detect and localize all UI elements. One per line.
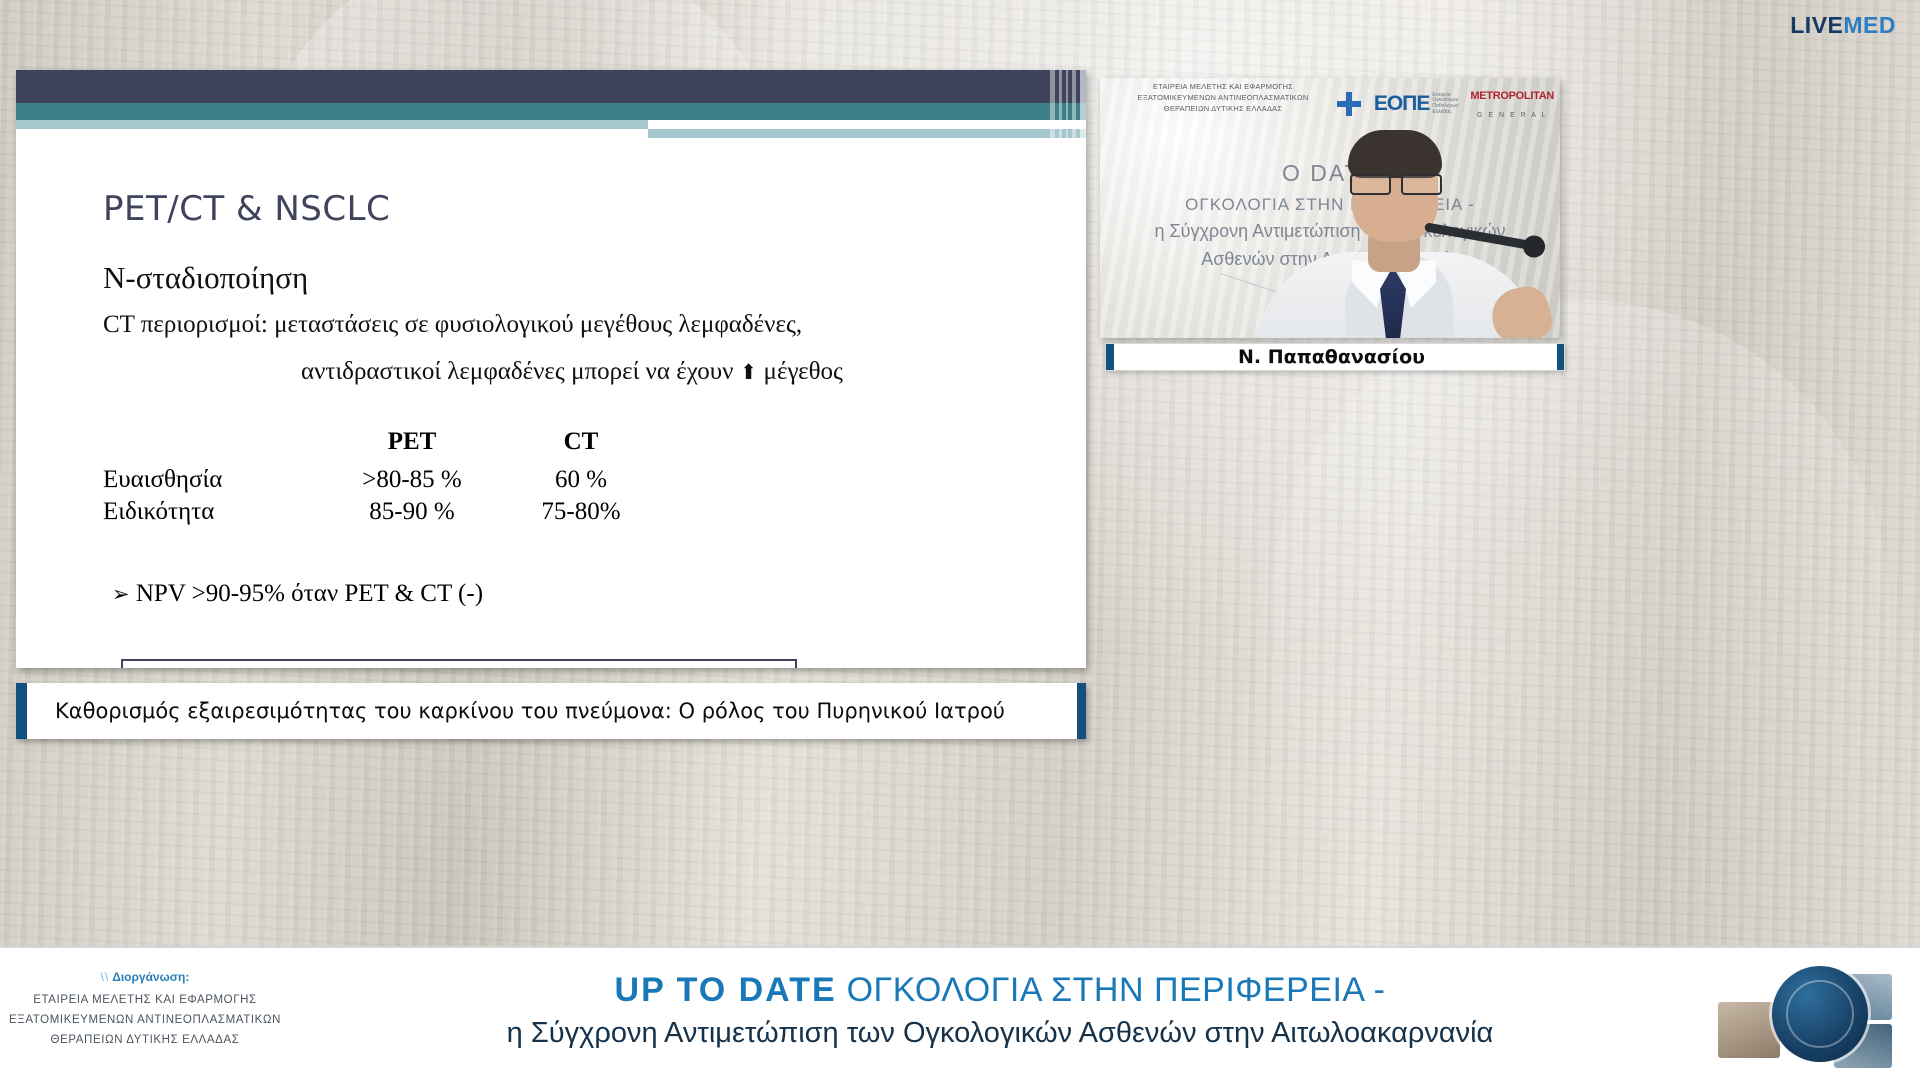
- livemed-logo-live: LIVE: [1790, 12, 1843, 38]
- npv-text: NPV >90-95% όταν PET & CT (-): [136, 580, 483, 607]
- slide-header-lightteal-band: [16, 120, 648, 129]
- video-org-line-1: ΕΤΑΙΡΕΙΑ ΜΕΛΕΤΗΣ ΚΑΙ ΕΦΑΡΜΟΓΗΣ: [1108, 82, 1338, 93]
- footer-organizer-block: \\ Διοργάνωση: ΕΤΑΙΡΕΙΑ ΜΕΛΕΤΗΣ ΚΑΙ ΕΦΑΡ…: [0, 970, 290, 1050]
- table-header-row: PET CT: [103, 426, 656, 464]
- video-slide-organizer-text: ΕΤΑΙΡΕΙΑ ΜΕΛΕΤΗΣ ΚΑΙ ΕΦΑΡΜΟΓΗΣ ΕΞΑΤΟΜΙΚΕ…: [1108, 82, 1338, 115]
- table-cell-pet: 85-90 %: [318, 496, 506, 528]
- footer-event-title: UP TO DATE ΟΓΚΟΛΟΓΙΑ ΣΤΗΝ ΠΕΡΙΦΕΡΕΙΑ - η…: [300, 972, 1700, 1050]
- slide-header-vertical-stripes: [1050, 70, 1086, 143]
- livemed-logo-med: MED: [1843, 12, 1896, 38]
- slide-header-teal-band: [16, 103, 1086, 120]
- eope-logo-subtext: Εταιρεία Ογκολόγων Παθολόγων Ελλάδας: [1432, 93, 1458, 116]
- footer-title-row-2: η Σύγχρονη Αντιμετώπιση των Ογκολογικών …: [300, 1017, 1700, 1050]
- speaker-name-bar: Ν. Παπαθανασίου: [1105, 343, 1565, 371]
- slide-ct-limitations-line-2: αντιδραστικοί λεμφαδένες μπορεί να έχουν…: [301, 358, 843, 386]
- microphone-icon: [1424, 222, 1536, 250]
- speaker-video-panel[interactable]: ΕΤΑΙΡΕΙΑ ΜΕΛΕΤΗΣ ΚΑΙ ΕΦΑΡΜΟΓΗΣ ΕΞΑΤΟΜΙΚΕ…: [1100, 78, 1560, 338]
- globe-icon: [1772, 966, 1868, 1062]
- table-row: Ειδικότητα 85-90 % 75-80%: [103, 496, 656, 528]
- table-header-blank: [103, 426, 318, 464]
- backdrop-arch-right: [1270, 300, 1890, 860]
- speaker-name: Ν. Παπαθανασίου: [1114, 346, 1557, 368]
- table-header-ct: CT: [506, 426, 656, 464]
- table-cell-ct: 60 %: [506, 464, 656, 496]
- footer-organizer-line-3: ΘΕΡΑΠΕΙΩΝ ΔΥΤΙΚΗΣ ΕΛΛΑΔΑΣ: [0, 1030, 290, 1050]
- npv-bullet-line: ➢ NPV >90-95% όταν PET & CT (-): [112, 580, 483, 608]
- speaker-figure: [1248, 120, 1548, 338]
- eope-logo: EOΠE Εταιρεία Ογκολόγων Παθολόγων Ελλάδα…: [1374, 92, 1459, 116]
- speaker-bar-accent-left: [1106, 344, 1114, 370]
- footer-organizer-slashes: \\: [101, 970, 110, 984]
- slide-ct-limitations-line-1: CT περιορισμοί: μεταστάσεις σε φυσιολογι…: [103, 311, 802, 339]
- metropolitan-logo-bottom: G E N E R A L: [1477, 112, 1547, 119]
- metropolitan-logo-top: METROPOLITAN: [1470, 90, 1554, 102]
- footer-title-row-1: UP TO DATE ΟΓΚΟΛΟΓΙΑ ΣΤΗΝ ΠΕΡΙΦΕΡΕΙΑ -: [300, 972, 1700, 1009]
- eope-sub-4: Ελλάδας: [1432, 109, 1451, 115]
- emblem-photo-left: [1718, 1002, 1780, 1058]
- footer-organizer-label: Διοργάνωση:: [112, 970, 189, 984]
- medical-cross-icon: [1336, 91, 1362, 117]
- callout-box: PET/CT+ διαβρογχική TBNA ή μεσοθωρακοσκό…: [121, 659, 797, 668]
- footer-organizer-line-2: ΕΞΑΤΟΜΙΚΕΥΜΕΝΩΝ ΑΝΤΙΝΕΟΠΛΑΣΜΑΤΙΚΩΝ: [0, 1010, 290, 1030]
- slide-header-lightteal-band-right: [648, 129, 1086, 138]
- video-slide-logos: EOΠE Εταιρεία Ογκολόγων Παθολόγων Ελλάδα…: [1336, 86, 1554, 122]
- talk-title-bar: Καθορισμός εξαιρεσιμότητας του καρκίνου …: [16, 683, 1086, 739]
- ct-line2-pre: αντιδραστικοί λεμφαδένες μπορεί να έχουν: [301, 358, 740, 385]
- speaker-glasses-icon: [1348, 174, 1444, 191]
- video-org-line-2: ΕΞΑΤΟΜΙΚΕΥΜΕΝΩΝ ΑΝΤΙΝΕΟΠΛΑΣΜΑΤΙΚΩΝ: [1108, 93, 1338, 104]
- livemed-logo: LIVEMED: [1790, 12, 1896, 39]
- table-row: Ευαισθησία >80-85 % 60 %: [103, 464, 656, 496]
- caption-accent-right: [1077, 683, 1086, 739]
- footer-organizer-label-row: \\ Διοργάνωση:: [0, 970, 290, 984]
- table-header-pet: PET: [318, 426, 506, 464]
- ct-line2-post: μέγεθος: [757, 358, 843, 385]
- speaker-bar-accent-right: [1557, 344, 1564, 370]
- table-cell-ct: 75-80%: [506, 496, 656, 528]
- presentation-slide[interactable]: PET/CT & NSCLC N-σταδιοποίηση CT περιορι…: [16, 70, 1086, 668]
- event-footer: \\ Διοργάνωση: ΕΤΑΙΡΕΙΑ ΜΕΛΕΤΗΣ ΚΑΙ ΕΦΑΡ…: [0, 946, 1920, 1080]
- footer-title-rest: ΟΓΚΟΛΟΓΙΑ ΣΤΗΝ ΠΕΡΙΦΕΡΕΙΑ -: [847, 971, 1386, 1009]
- slide-subtitle: N-σταδιοποίηση: [103, 260, 308, 296]
- table-cell-label: Ειδικότητα: [103, 496, 318, 528]
- slide-body: PET/CT & NSCLC N-σταδιοποίηση CT περιορι…: [16, 143, 1086, 668]
- eope-logo-text: EOΠE: [1374, 92, 1430, 116]
- table-cell-label: Ευαισθησία: [103, 464, 318, 496]
- video-org-line-3: ΘΕΡΑΠΕΙΩΝ ΔΥΤΙΚΗΣ ΕΛΛΑΔΑΣ: [1108, 104, 1338, 115]
- pet-ct-stats-table: PET CT Ευαισθησία >80-85 % 60 % Ειδικότη…: [103, 426, 656, 528]
- footer-emblem-collage: [1716, 960, 1896, 1070]
- bullet-arrow-icon: ➢: [112, 582, 130, 606]
- caption-text: Καθορισμός εξαιρεσιμότητας του καρκίνου …: [27, 699, 1077, 723]
- caption-accent-left: [16, 683, 27, 739]
- screen: LIVEMED PET/CT & NSCLC N-σταδιοποίηση CT…: [0, 0, 1920, 1080]
- up-arrow-icon: ⬆: [740, 360, 758, 384]
- slide-header-navy-band: [16, 70, 1086, 103]
- footer-title-strong: UP TO DATE: [615, 971, 837, 1009]
- speaker-hair: [1348, 130, 1442, 178]
- table-cell-pet: >80-85 %: [318, 464, 506, 496]
- footer-organizer-line-1: ΕΤΑΙΡΕΙΑ ΜΕΛΕΤΗΣ ΚΑΙ ΕΦΑΡΜΟΓΗΣ: [0, 990, 290, 1010]
- slide-title: PET/CT & NSCLC: [103, 189, 390, 229]
- metropolitan-general-logo: METROPOLITAN G E N E R A L: [1470, 86, 1554, 122]
- slide-header-white-gap: [648, 120, 1086, 129]
